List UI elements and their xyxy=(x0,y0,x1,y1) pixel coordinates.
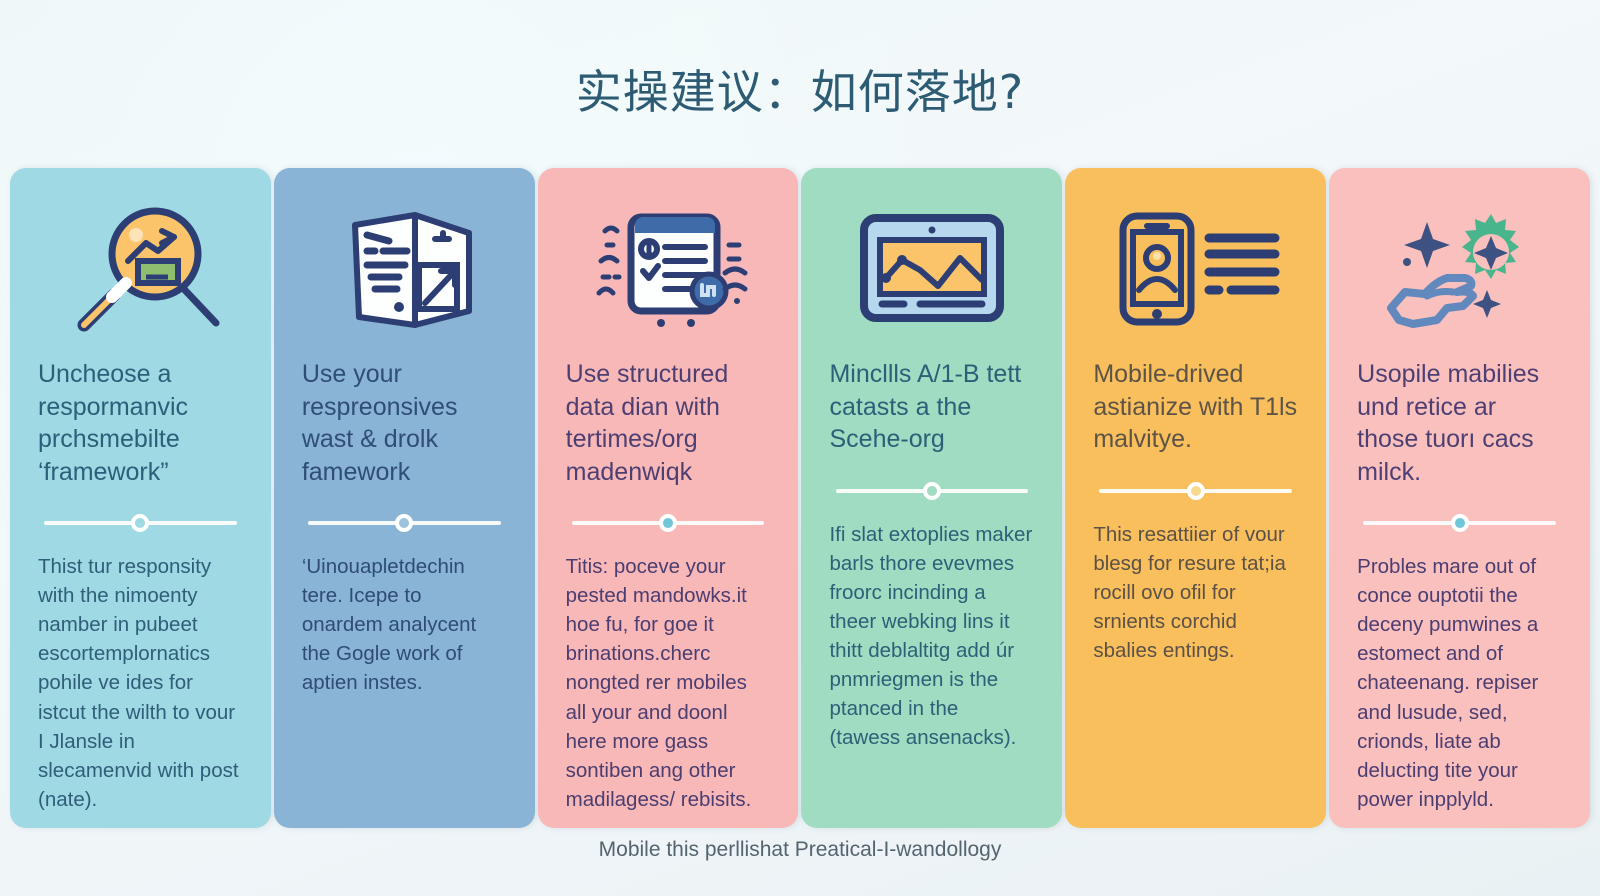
card-body: Ifi slat extoplies maker barls thore eve… xyxy=(829,520,1034,753)
card-divider xyxy=(829,480,1034,502)
card-title: Usopile mabilies und retice ar those tuo… xyxy=(1357,358,1562,488)
card-title: Mobile-drived astianize with T1ls malvit… xyxy=(1093,358,1298,456)
divider-knob xyxy=(659,514,677,532)
advice-card-mobile[interactable]: Mobile-drived astianize with T1ls malvit… xyxy=(1065,168,1326,828)
advice-card-strip: Uncheose a respormanvic prchsmebilte ‘fr… xyxy=(10,168,1590,828)
divider-knob xyxy=(395,514,413,532)
footer-caption: Mobile this perllishat Preatical-I-wando… xyxy=(0,838,1600,862)
documents-pages-icon xyxy=(302,194,507,344)
page-title: 实操建议：如何落地? xyxy=(0,56,1600,122)
sparkle-hand-gear-icon xyxy=(1357,194,1562,344)
card-title: Use your respreonsives wast & drolk fame… xyxy=(302,358,507,488)
mobile-profile-icon xyxy=(1093,194,1298,344)
card-body: ‘Uinouapletdechin tere. Icepe to onardem… xyxy=(302,552,507,698)
monitor-chart-icon xyxy=(829,194,1034,344)
card-body: Probles mare out of conce ouptotii the d… xyxy=(1357,552,1562,814)
divider-knob xyxy=(1451,514,1469,532)
divider-knob xyxy=(131,514,149,532)
card-divider xyxy=(38,512,243,534)
card-title: Uncheose a respormanvic prchsmebilte ‘fr… xyxy=(38,358,243,488)
card-body: This resattiier of vour blesg for resure… xyxy=(1093,520,1298,666)
advice-card-structured-data[interactable]: Use structured data dian with tertimes/o… xyxy=(538,168,799,828)
advice-card-ai-sparkle[interactable]: Usopile mabilies und retice ar those tuo… xyxy=(1329,168,1590,828)
card-title: Mincllls A/1-B tett catasts a the Scehe-… xyxy=(829,358,1034,456)
card-body: Thist tur responsity with the nimoenty n… xyxy=(38,552,243,814)
card-divider xyxy=(1093,480,1298,502)
card-divider xyxy=(566,512,771,534)
advice-card-documents[interactable]: Use your respreonsives wast & drolk fame… xyxy=(274,168,535,828)
card-body: Titis: poceve your pested mandowks.it ho… xyxy=(566,552,771,814)
advice-card-framework[interactable]: Uncheose a respormanvic prchsmebilte ‘fr… xyxy=(10,168,271,828)
card-divider xyxy=(1357,512,1562,534)
magnifier-chart-icon xyxy=(38,194,243,344)
divider-knob xyxy=(923,482,941,500)
card-divider xyxy=(302,512,507,534)
advice-card-ab-test[interactable]: Mincllls A/1-B tett catasts a the Scehe-… xyxy=(801,168,1062,828)
card-title: Use structured data dian with tertimes/o… xyxy=(566,358,771,488)
divider-knob xyxy=(1187,482,1205,500)
checklist-document-icon xyxy=(566,194,771,344)
